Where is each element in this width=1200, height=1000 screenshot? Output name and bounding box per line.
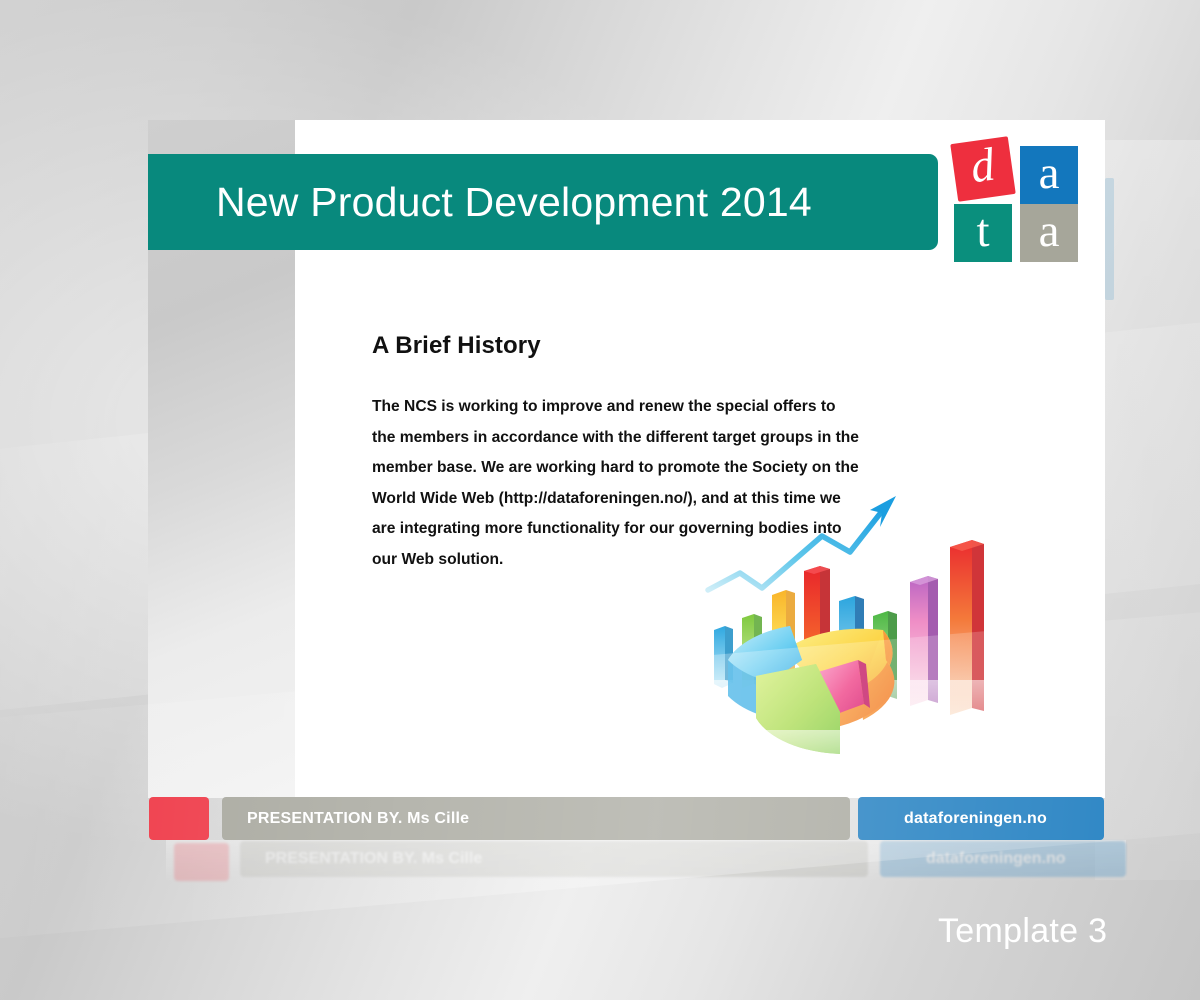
footer-accent-reflection bbox=[174, 843, 229, 881]
slide-ghost-strip bbox=[1105, 178, 1114, 300]
logo-letter-a-bottom: a bbox=[1039, 208, 1060, 255]
footer-website-reflection-label: dataforeningen.no bbox=[880, 850, 1066, 868]
logo-letter-t: t bbox=[976, 208, 989, 255]
slide-title: New Product Development 2014 bbox=[148, 179, 812, 226]
slide-body-paragraph: The NCS is working to improve and renew … bbox=[372, 392, 862, 575]
logo-tile-a-bottom: a bbox=[1020, 204, 1078, 262]
slide-title-bar: New Product Development 2014 bbox=[148, 154, 938, 250]
data-logo: d a t a bbox=[952, 138, 1092, 270]
slide-preview-canvas: New Product Development 2014 d a t a A B… bbox=[0, 0, 1200, 1000]
logo-tile-d: d bbox=[950, 136, 1016, 202]
footer-website-reflection: dataforeningen.no bbox=[880, 841, 1126, 877]
logo-letter-d: d bbox=[968, 141, 998, 191]
logo-tile-t: t bbox=[954, 204, 1012, 262]
slide-body-heading: A Brief History bbox=[372, 332, 541, 360]
template-caption: Template 3 bbox=[938, 912, 1107, 951]
logo-tile-a-top: a bbox=[1020, 146, 1078, 204]
footer-website-label: dataforeningen.no bbox=[858, 810, 1047, 828]
footer-presenter-reflection: PRESENTATION BY. Ms Cille bbox=[240, 841, 868, 877]
footer-accent-block bbox=[149, 797, 209, 840]
footer-presenter-reflection-label: PRESENTATION BY. Ms Cille bbox=[240, 850, 482, 868]
footer-presenter-bar: PRESENTATION BY. Ms Cille bbox=[222, 797, 850, 840]
footer-presenter-label: PRESENTATION BY. Ms Cille bbox=[222, 810, 469, 828]
footer-website-bar[interactable]: dataforeningen.no bbox=[858, 797, 1104, 840]
logo-letter-a-top: a bbox=[1039, 150, 1060, 197]
